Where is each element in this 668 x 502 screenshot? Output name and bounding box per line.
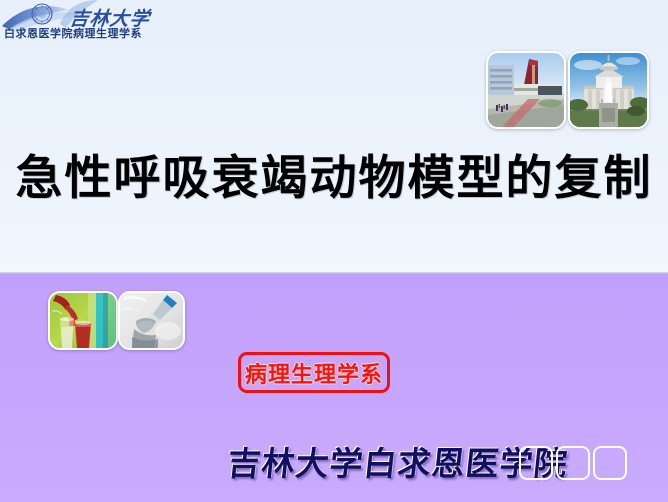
lab-pipette-image	[120, 293, 183, 348]
placeholder-squares	[519, 446, 627, 480]
lab-glassware-image	[50, 293, 116, 348]
memorial-hall-image	[570, 53, 647, 127]
logo-department-line: 白求恩医学院病理生理学系	[4, 25, 142, 41]
placeholder-square-2	[556, 446, 590, 480]
lab-glassware-photo	[48, 291, 118, 350]
presentation-slide: 吉林大学 白求恩医学院病理生理学系	[0, 0, 668, 502]
placeholder-square-3	[593, 446, 627, 480]
memorial-hall-photo	[568, 51, 649, 129]
campus-building-photo	[486, 51, 566, 129]
university-logo: 吉林大学 白求恩医学院病理生理学系	[0, 0, 152, 44]
page-title: 急性呼吸衰竭动物模型的复制	[0, 152, 668, 206]
background-divider	[0, 272, 668, 274]
department-seal: 病理生理学系	[238, 352, 390, 393]
department-seal-text: 病理生理学系	[245, 357, 383, 389]
campus-building-image	[488, 53, 564, 127]
lab-pipette-photo	[118, 291, 185, 350]
placeholder-square-1	[519, 446, 553, 480]
